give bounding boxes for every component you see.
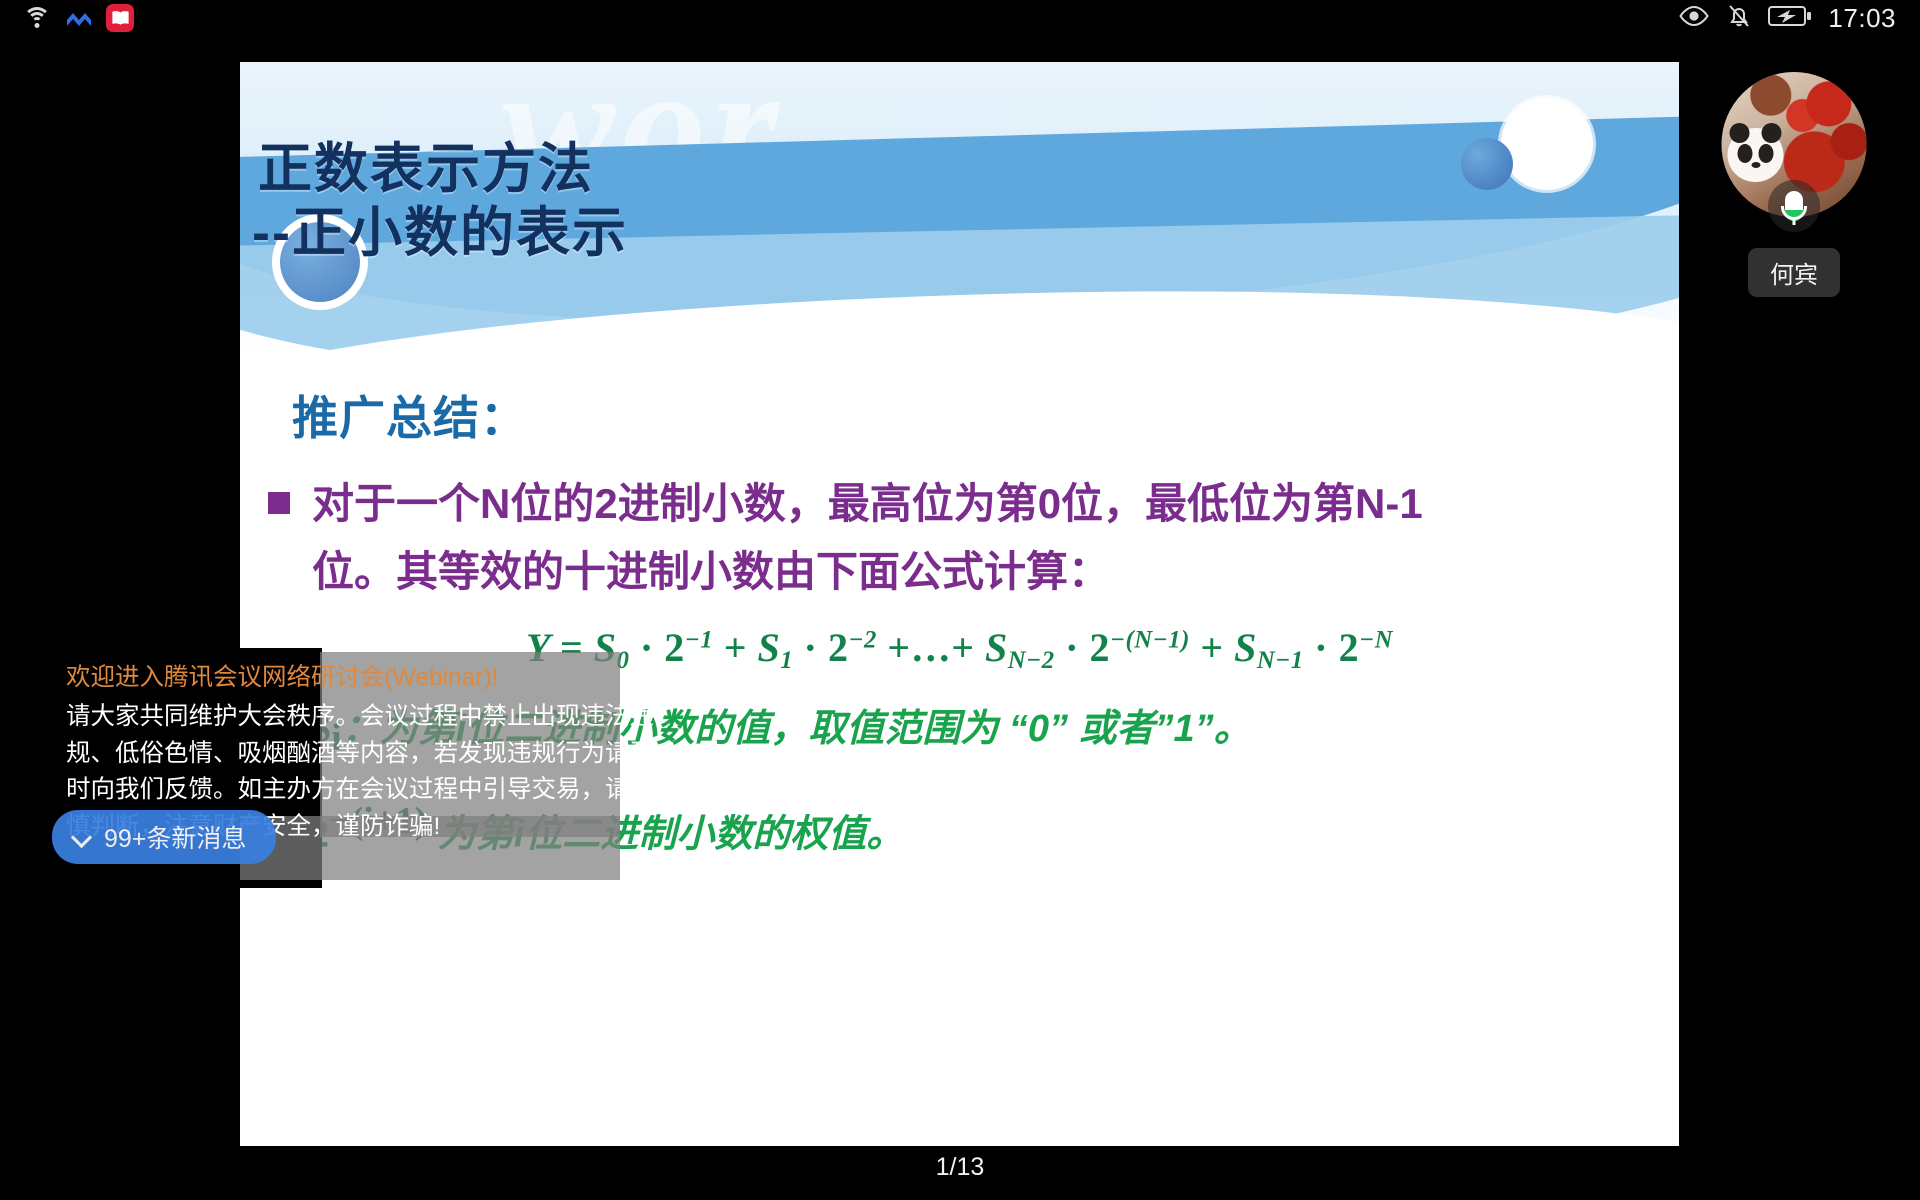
decor-circle-blue [1461, 138, 1513, 190]
panda-decoration-icon [1728, 128, 1784, 182]
formula-dot-4: · [1314, 625, 1328, 670]
formula-base-1: 2 [664, 625, 685, 670]
bullet-square-icon [268, 492, 290, 514]
bullet-purple-text: 对于一个N位的2进制小数，最高位为第0位，最低位为第N-1 位。其等效的十进制小… [312, 470, 1423, 606]
status-bar-left-icons [22, 4, 134, 32]
new-messages-label: 99+条新消息 [104, 819, 246, 855]
slide-title-line1: 正数表示方法 [258, 139, 594, 199]
formula-plus-1: + [724, 625, 747, 670]
formula-base-3: 2 [1089, 625, 1110, 670]
panda-eye-left [1738, 144, 1753, 163]
status-bar-right-icons: 17:03 [1678, 3, 1896, 34]
formula-exp-1: −1 [685, 626, 713, 653]
slide-title-line2: --正小数的表示 [252, 202, 628, 266]
chat-welcome-message: 欢迎进入腾讯会议网络研讨会(Webinar)! [66, 660, 666, 697]
slide-title: 正数表示方法 --正小数的表示 [258, 138, 628, 265]
chevron-down-icon [72, 827, 92, 847]
formula-exp-3: −(N−1) [1110, 626, 1190, 653]
formula-ellipsis: +…+ [887, 625, 974, 670]
panda-nose [1752, 162, 1761, 168]
formula-base-2: 2 [828, 625, 849, 670]
participant-tile[interactable]: 何宾 [1680, 62, 1908, 312]
formula-plus-2: + [1200, 625, 1223, 670]
page-indicator: 1/13 [0, 1153, 1920, 1182]
formula-sn2: S [985, 625, 1008, 670]
formula-base-4: 2 [1339, 625, 1360, 670]
battery-charging-icon [1768, 5, 1812, 32]
formula-exp-4: −N [1359, 626, 1393, 653]
bell-off-icon [1726, 3, 1752, 34]
shared-slide-stage[interactable]: wor 正数表示方法 --正小数的表示 推广总结： 对于一个N位的2进制小数，最… [240, 62, 1679, 1146]
section-title: 推广总结： [292, 382, 1651, 448]
panda-eye-right [1759, 144, 1774, 163]
formula-exp-2: −2 [848, 626, 876, 653]
new-messages-badge[interactable]: 99+条新消息 [52, 810, 276, 864]
clock-time: 17:03 [1828, 3, 1896, 34]
bullet-purple-line1: 对于一个N位的2进制小数，最高位为第0位，最低位为第N-1 [312, 480, 1423, 527]
bullet-purple-line2: 位。其等效的十进制小数由下面公式计算： [312, 538, 1423, 606]
status-bar: 17:03 [0, 0, 1920, 42]
formula-sn1: S [1234, 625, 1257, 670]
formula-sn2-sub: N−2 [1008, 647, 1055, 674]
mic-stem [1793, 218, 1796, 225]
formula-s1: S [757, 625, 780, 670]
participant-name-badge: 何宾 [1748, 248, 1840, 297]
formula-sn1-sub: N−1 [1257, 647, 1304, 674]
formula-s1-sub: 1 [780, 647, 793, 674]
bullet-item-purple: 对于一个N位的2进制小数，最高位为第0位，最低位为第N-1 位。其等效的十进制小… [268, 470, 1651, 606]
blue-app-icon [66, 7, 92, 29]
formula-dot-3: · [1065, 625, 1079, 670]
formula-dot-2: · [804, 625, 818, 670]
eye-icon [1678, 5, 1710, 32]
wifi-icon [22, 5, 52, 31]
microphone-icon[interactable] [1768, 180, 1820, 232]
slide-header-banner: wor 正数表示方法 --正小数的表示 [240, 62, 1679, 352]
red-book-app-icon [106, 4, 134, 32]
decor-circle-white [1501, 98, 1593, 190]
